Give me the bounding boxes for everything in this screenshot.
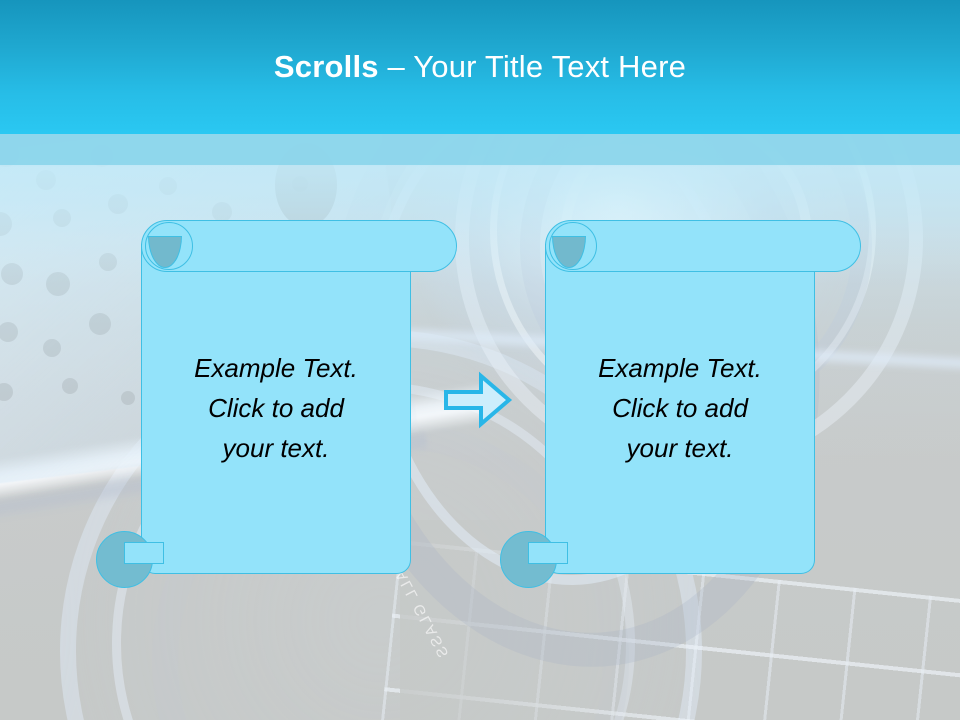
scroll-right-bottom-lip — [528, 542, 568, 564]
header-bar: Scrolls – Your Title Text Here — [0, 0, 960, 134]
scroll-left-bottom-lip — [124, 542, 164, 564]
scroll-left-text[interactable]: Example Text. Click to add your text. — [151, 348, 401, 468]
page-title-separator: – — [379, 49, 414, 84]
slide-canvas: ALL GLASS Scrolls – Your Title Text Here… — [0, 0, 960, 720]
page-title: Scrolls – Your Title Text Here — [0, 0, 960, 134]
blue-accent-band — [0, 134, 960, 165]
page-title-rest: Your Title Text Here — [413, 49, 686, 84]
right-arrow-svg — [443, 371, 513, 429]
right-arrow-icon — [443, 371, 513, 429]
scroll-right-text[interactable]: Example Text. Click to add your text. — [555, 348, 805, 468]
page-title-strong: Scrolls — [274, 49, 379, 84]
